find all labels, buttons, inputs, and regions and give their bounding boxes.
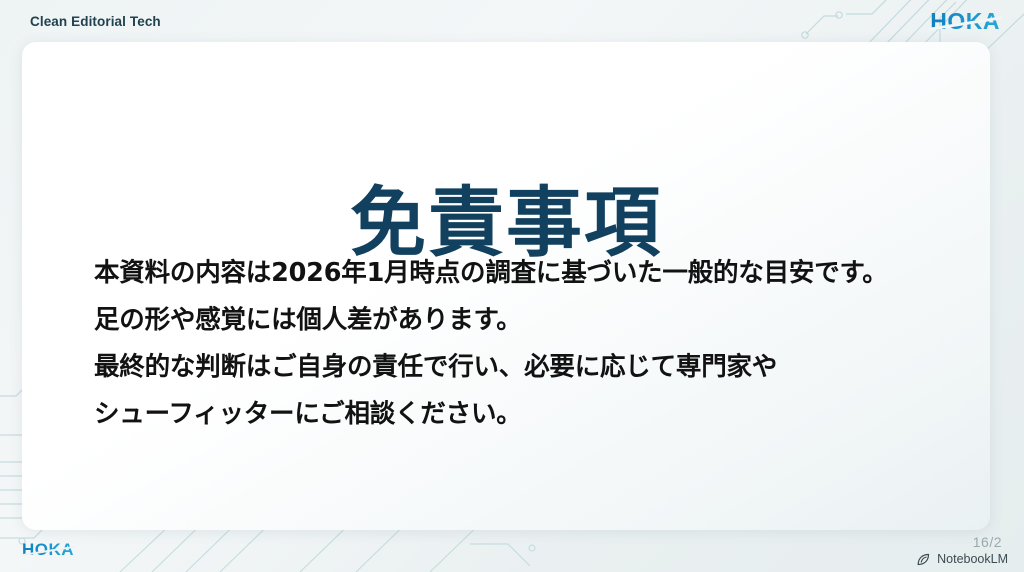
header-title: Clean Editorial Tech [30, 14, 161, 29]
notebooklm-label: NotebookLM [937, 552, 1008, 566]
notebooklm-icon [917, 553, 932, 566]
body-line: 本資料の内容は2026年1月時点の調査に基づいた一般的な目安です。 [94, 250, 950, 297]
body-line: 最終的な判断はご自身の責任で行い、必要に応じて専門家や [94, 344, 950, 391]
body-text-block: 本資料の内容は2026年1月時点の調査に基づいた一般的な目安です。 足の形や感覚… [94, 250, 950, 438]
notebooklm-watermark: NotebookLM [917, 552, 1008, 566]
hoka-logo-top: HOKA [930, 8, 1000, 35]
hoka-logo-bottom: HOKA [22, 540, 74, 560]
body-line: シューフィッターにご相談ください。 [94, 391, 950, 438]
body-line: 足の形や感覚には個人差があります。 [94, 297, 950, 344]
content-card: 免責事項 本資料の内容は2026年1月時点の調査に基づいた一般的な目安です。 足… [22, 42, 990, 530]
page-number: 16/2 [973, 534, 1002, 550]
slide-canvas: Clean Editorial Tech HOKA 免責事項 本資料の内容は20… [0, 0, 1024, 572]
slide-header: Clean Editorial Tech [0, 0, 1024, 42]
